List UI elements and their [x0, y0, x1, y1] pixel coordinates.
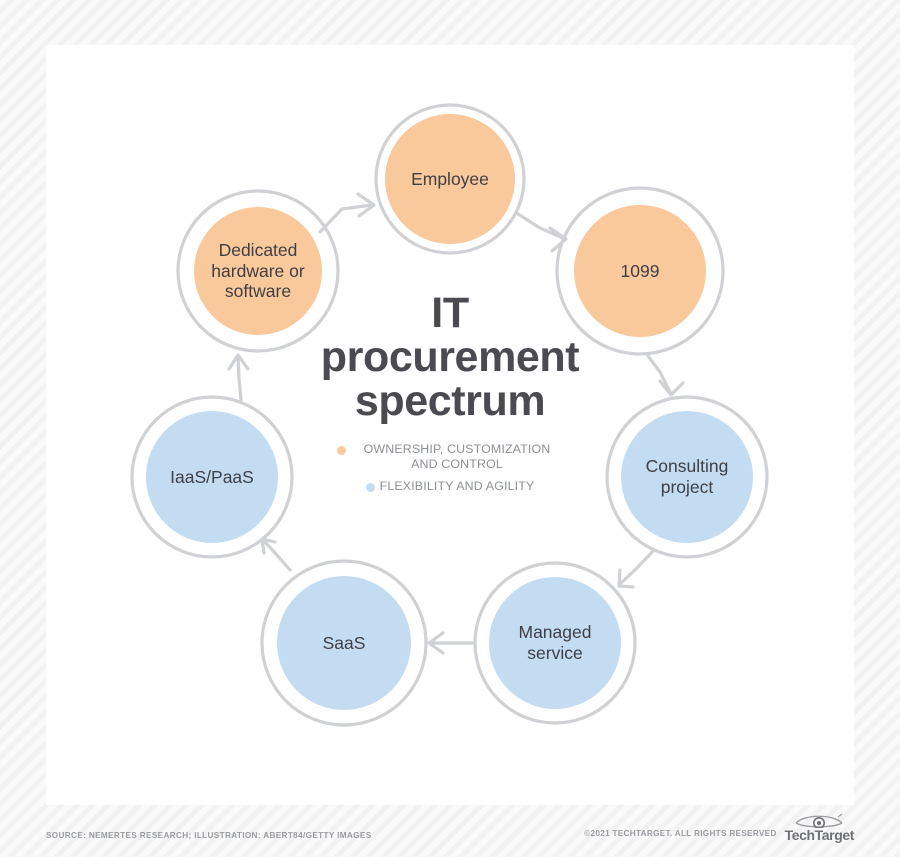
- node-employee-label: Employee: [401, 169, 499, 190]
- node-iaas-paas[interactable]: IaaS/PaaS: [146, 411, 278, 543]
- node-managed-service[interactable]: Managed service: [489, 577, 621, 709]
- legend-item-ownership-label: OWNERSHIP, CUSTOMIZATION AND CONTROL: [351, 442, 563, 474]
- page-title: IT procurement spectrum: [300, 292, 600, 424]
- node-managed-service-label: Managed service: [509, 622, 602, 663]
- eye-target-icon: [793, 812, 845, 828]
- node-saas[interactable]: SaaS: [277, 576, 411, 710]
- node-consulting-project-label: Consulting project: [636, 456, 739, 497]
- legend-dot-orange-icon: [337, 446, 346, 455]
- legend-item-flexibility-label: FLEXIBILITY AND AGILITY: [380, 479, 535, 495]
- footer-right: ©2021 TECHTARGET. ALL RIGHTS RESERVED Te…: [584, 812, 854, 842]
- techtarget-logo-text: TechTarget: [785, 828, 854, 842]
- source-credit: SOURCE: NEMERTES RESEARCH; ILLUSTRATION:…: [46, 831, 372, 840]
- node-dedicated-hardware-or-software-label: Dedicated hardware or software: [201, 240, 314, 302]
- node-consulting-project[interactable]: Consulting project: [621, 411, 753, 543]
- legend-item-ownership: OWNERSHIP, CUSTOMIZATION AND CONTROL: [300, 442, 600, 474]
- legend: OWNERSHIP, CUSTOMIZATION AND CONTROL FLE…: [300, 442, 600, 496]
- legend-item-flexibility: FLEXIBILITY AND AGILITY: [300, 479, 600, 495]
- node-1099-label: 1099: [611, 261, 670, 282]
- techtarget-logo: TechTarget: [785, 812, 854, 842]
- copyright-notice: ©2021 TECHTARGET. ALL RIGHTS RESERVED: [584, 829, 776, 842]
- legend-dot-blue-icon: [366, 483, 375, 492]
- node-saas-label: SaaS: [313, 633, 376, 654]
- node-iaas-paas-label: IaaS/PaaS: [160, 467, 264, 488]
- center-block: IT procurement spectrum OWNERSHIP, CUSTO…: [300, 292, 600, 501]
- node-employee[interactable]: Employee: [385, 114, 515, 244]
